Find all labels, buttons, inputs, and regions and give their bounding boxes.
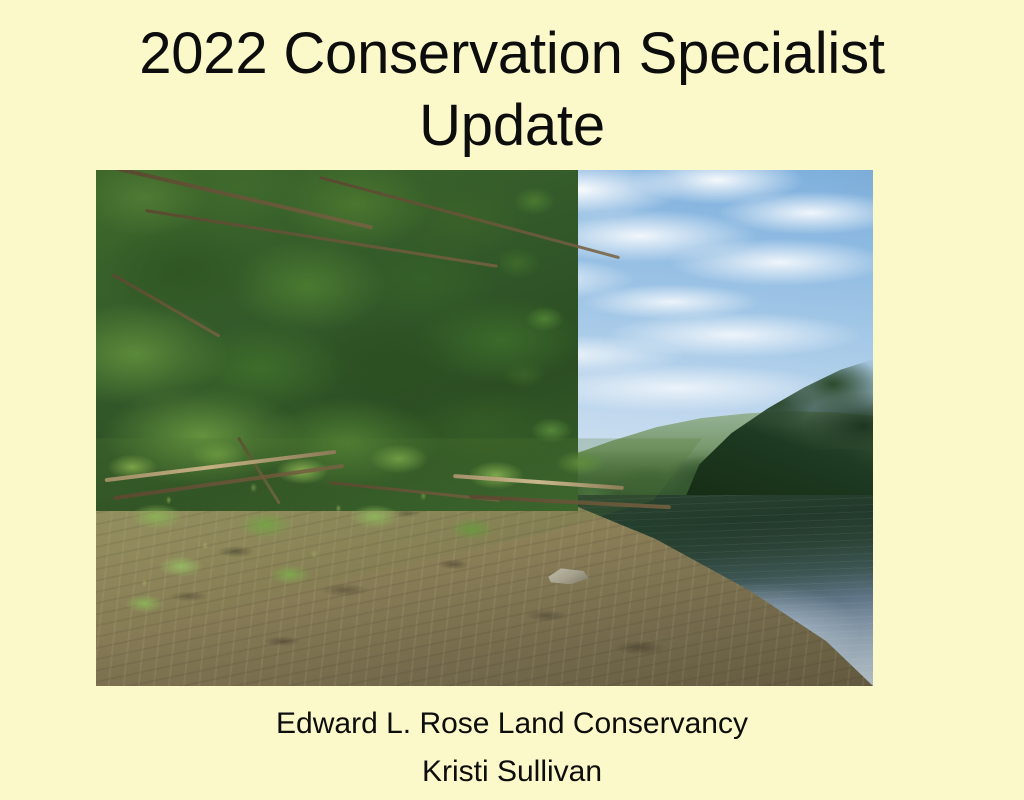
presentation-slide: 2022 Conservation Specialist Update (0, 0, 1024, 800)
title-line-2: Update (0, 90, 1024, 162)
photo-canvas (96, 170, 873, 686)
slide-subtitle: Edward L. Rose Land Conservancy Kristi S… (0, 700, 1024, 796)
canopy-edge-layer (500, 170, 671, 480)
riverbank-photo (96, 170, 873, 686)
presenter-name: Kristi Sullivan (0, 748, 1024, 796)
slide-title: 2022 Conservation Specialist Update (0, 18, 1024, 162)
title-line-1: 2022 Conservation Specialist (0, 18, 1024, 90)
organization-name: Edward L. Rose Land Conservancy (0, 700, 1024, 748)
